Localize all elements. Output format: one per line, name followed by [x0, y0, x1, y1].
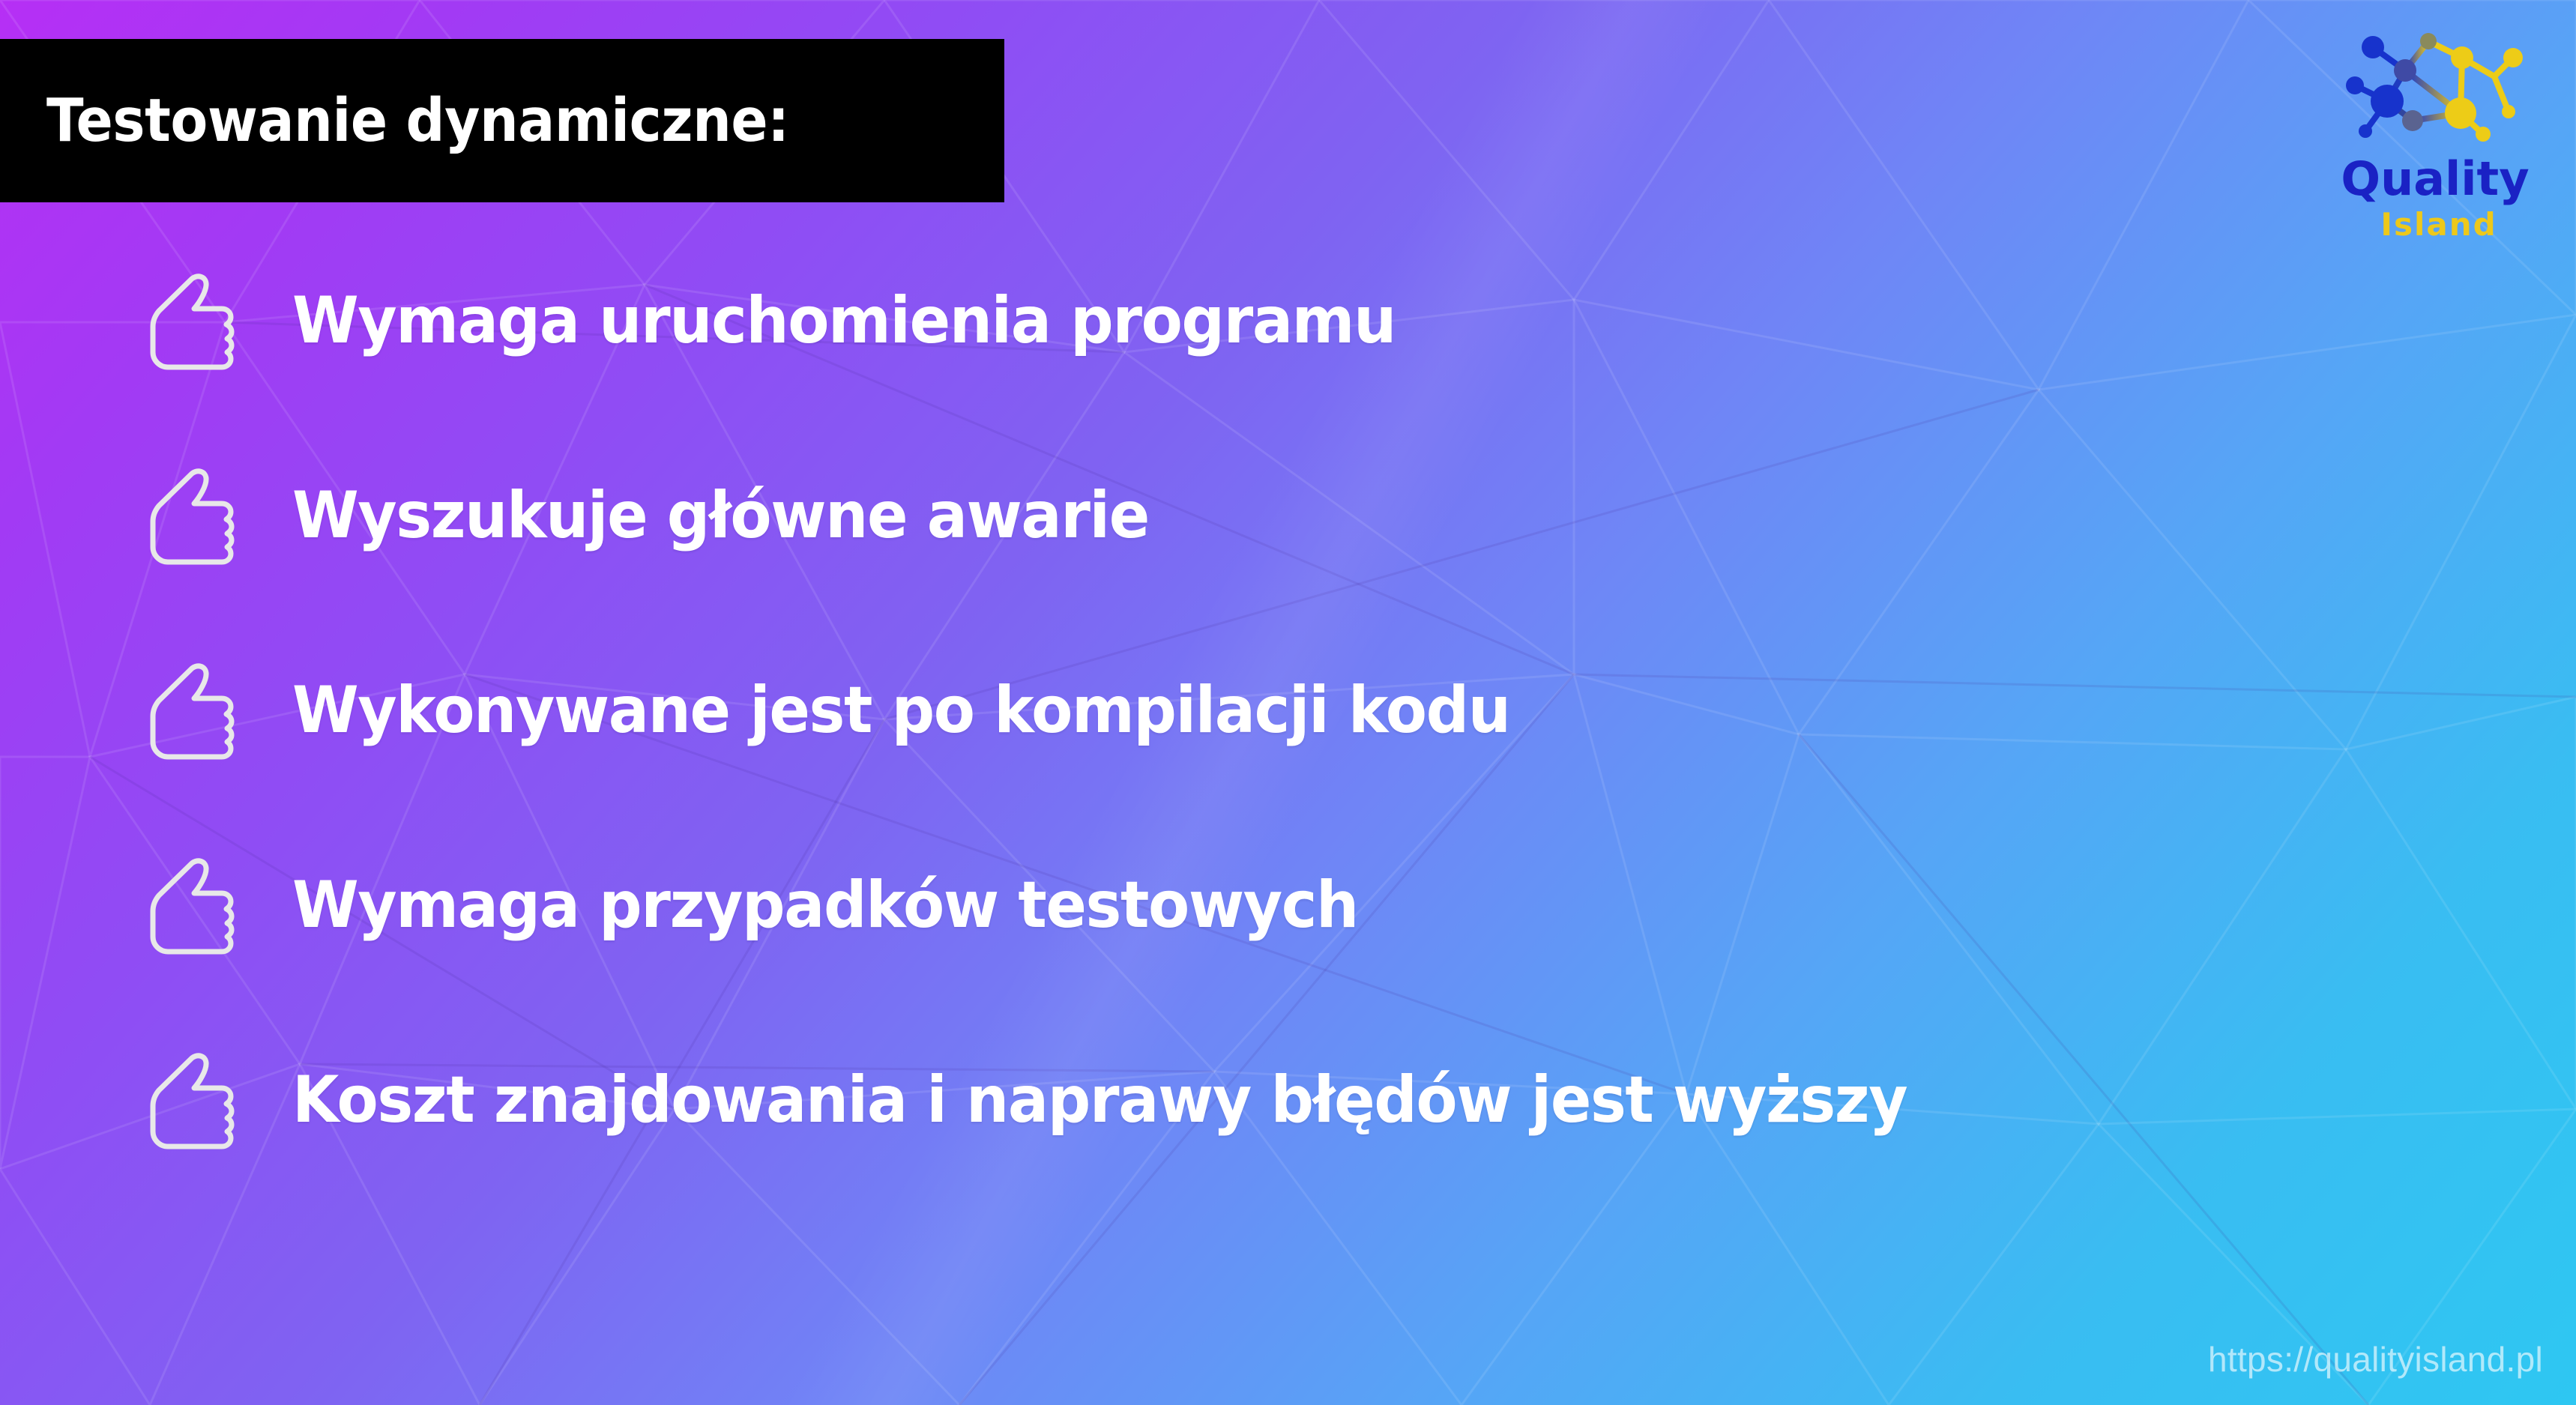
thumbs-up-icon [147, 856, 243, 955]
list-item: Wykonywane jest po kompilacji kodu [147, 653, 2470, 767]
list-item: Wyszukuje główne awarie [147, 459, 2470, 572]
slide-canvas: Testowanie dynamiczne: Wymaga uruchomien… [0, 0, 2576, 1405]
site-url[interactable]: https://qualityisland.pl [2208, 1339, 2543, 1380]
list-item-label: Wyszukuje główne awarie [292, 478, 1149, 553]
list-item: Koszt znajdowania i naprawy błędów jest … [147, 1043, 2470, 1157]
list-item-label: Koszt znajdowania i naprawy błędów jest … [292, 1063, 1907, 1137]
logo-word-island: Island [2380, 206, 2497, 243]
list-item-label: Wymaga przypadków testowych [292, 868, 1358, 943]
thumbs-up-icon [147, 661, 243, 760]
page-title: Testowanie dynamiczne: [46, 86, 789, 155]
list-item: Wymaga uruchomienia programu [147, 264, 2470, 378]
logo-network-graph [2346, 33, 2523, 142]
quality-island-logo: Quality Island [2323, 16, 2548, 264]
title-band: Testowanie dynamiczne: [0, 39, 1004, 202]
list-item-label: Wymaga uruchomienia programu [292, 283, 1396, 358]
thumbs-up-icon [147, 466, 243, 565]
list-item: Wymaga przypadków testowych [147, 848, 2470, 962]
bullet-list: Wymaga uruchomienia programu Wyszukuje g… [147, 264, 2470, 1157]
thumbs-up-icon [147, 271, 243, 370]
thumbs-up-icon [147, 1051, 243, 1149]
logo-word-quality: Quality [2341, 151, 2529, 206]
list-item-label: Wykonywane jest po kompilacji kodu [292, 673, 1510, 748]
